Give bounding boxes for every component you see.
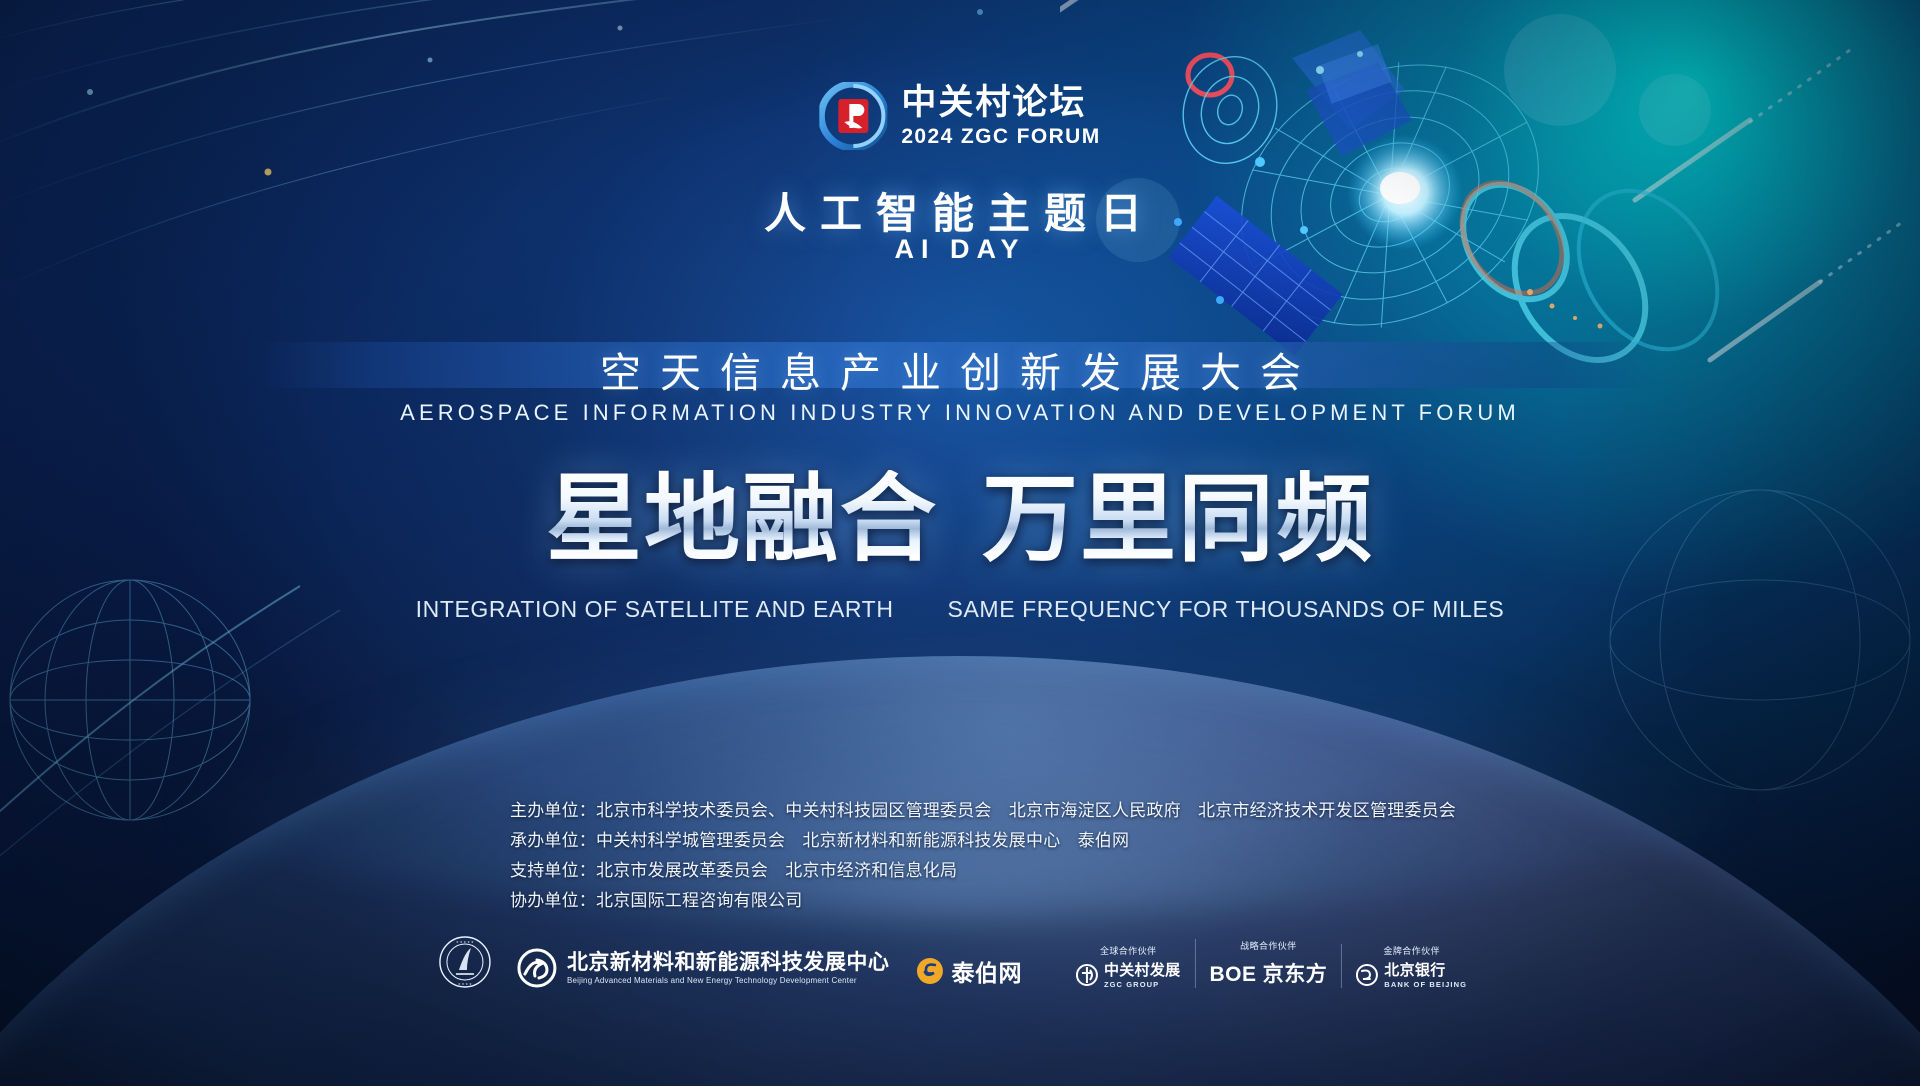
- taibo-logo: 泰伯网: [915, 954, 1022, 988]
- taibo-logo-cn: 泰伯网: [951, 954, 1022, 988]
- partner-logo-group: 全球合作伙伴 中关村发展 ZGC GROUP: [1062, 939, 1481, 988]
- slogan-part-1-en: INTEGRATION OF SATELLITE AND EARTH: [416, 596, 894, 623]
- bank-of-beijing-icon: [1356, 964, 1378, 986]
- zgc-forum-logo: 中关村论坛 2024 ZGC FORUM: [819, 82, 1100, 150]
- slogan-cn: 星地融合 万里同频: [546, 470, 1374, 571]
- bame-logo-en: Beijing Advanced Materials and New Energ…: [567, 977, 890, 985]
- forum-title-cn: 空天信息产业创新发展大会: [600, 339, 1320, 399]
- taibo-swirl-icon: [915, 957, 943, 985]
- slogan-part-2-cn: 万里同频: [982, 470, 1374, 571]
- partner-gold: 金牌合作伙伴 北京银行 BANK OF BEIJING: [1341, 944, 1481, 989]
- slogan-en: INTEGRATION OF SATELLITE AND EARTH SAME …: [416, 596, 1505, 623]
- bank-of-beijing-en: BANK OF BEIJING: [1384, 981, 1467, 989]
- partner-global-label: 全球合作伙伴: [1100, 944, 1156, 957]
- organizer-line-coorganizer: 协办单位：北京国际工程咨询有限公司: [510, 886, 1410, 911]
- bame-monogram-icon: [517, 948, 557, 988]
- svg-text:★ ★ ★ ★ ★: ★ ★ ★ ★ ★: [456, 940, 474, 944]
- partner-global: 全球合作伙伴 中关村发展 ZGC GROUP: [1062, 944, 1195, 989]
- bame-logo-cn: 北京新材料和新能源科技发展中心: [567, 952, 890, 973]
- organizer-line-supporter: 支持单位：北京市发展改革委员会 北京市经济和信息化局: [510, 856, 1410, 881]
- organizer-line-undertaker: 承办单位：中关村科学城管理委员会 北京新材料和新能源科技发展中心 泰伯网: [510, 826, 1410, 851]
- svg-text:★ ★ ★ ★: ★ ★ ★ ★: [458, 982, 472, 986]
- organizer-list: 主办单位：北京市科学技术委员会、中关村科技园区管理委员会 北京市海淀区人民政府 …: [510, 796, 1410, 911]
- boe-logo-text: BOE 京东方: [1209, 958, 1327, 988]
- bank-of-beijing-cn: 北京银行: [1384, 963, 1467, 978]
- zgc-logo-en: 2024 ZGC FORUM: [901, 126, 1100, 147]
- zgc-group-cn: 中关村发展: [1104, 963, 1181, 978]
- bame-logo: 北京新材料和新能源科技发展中心 Beijing Advanced Materia…: [517, 948, 890, 988]
- partner-strategic: 战略合作伙伴 BOE 京东方: [1194, 939, 1341, 988]
- zgc-forum-logo-icon: [819, 82, 887, 150]
- government-seal-icon: ★ ★ ★ ★ ★ ★ ★ ★ ★: [439, 936, 491, 988]
- organizer-line-host: 主办单位：北京市科学技术委员会、中关村科技园区管理委员会 北京市海淀区人民政府 …: [510, 796, 1410, 821]
- slogan-part-2-en: SAME FREQUENCY FOR THOUSANDS OF MILES: [948, 596, 1505, 623]
- footer-logo-strip: ★ ★ ★ ★ ★ ★ ★ ★ ★ 北京新材料和新能源科技发展中心 Beijin…: [439, 936, 1481, 988]
- forum-title-en: AEROSPACE INFORMATION INDUSTRY INNOVATIO…: [400, 400, 1520, 426]
- ai-day-title-cn: 人工智能主题日: [764, 180, 1156, 241]
- zgc-logo-cn: 中关村论坛: [901, 85, 1100, 120]
- partner-strategic-label: 战略合作伙伴: [1240, 939, 1296, 952]
- zgc-group-en: ZGC GROUP: [1104, 981, 1181, 989]
- ai-day-title-en: AI DAY: [894, 234, 1025, 265]
- slogan-part-1-cn: 星地融合: [546, 470, 938, 571]
- zgc-group-icon: [1076, 964, 1098, 986]
- partner-gold-label: 金牌合作伙伴: [1383, 944, 1439, 957]
- poster-canvas: 中关村论坛 2024 ZGC FORUM 人工智能主题日 AI DAY 空天信息…: [0, 0, 1920, 1086]
